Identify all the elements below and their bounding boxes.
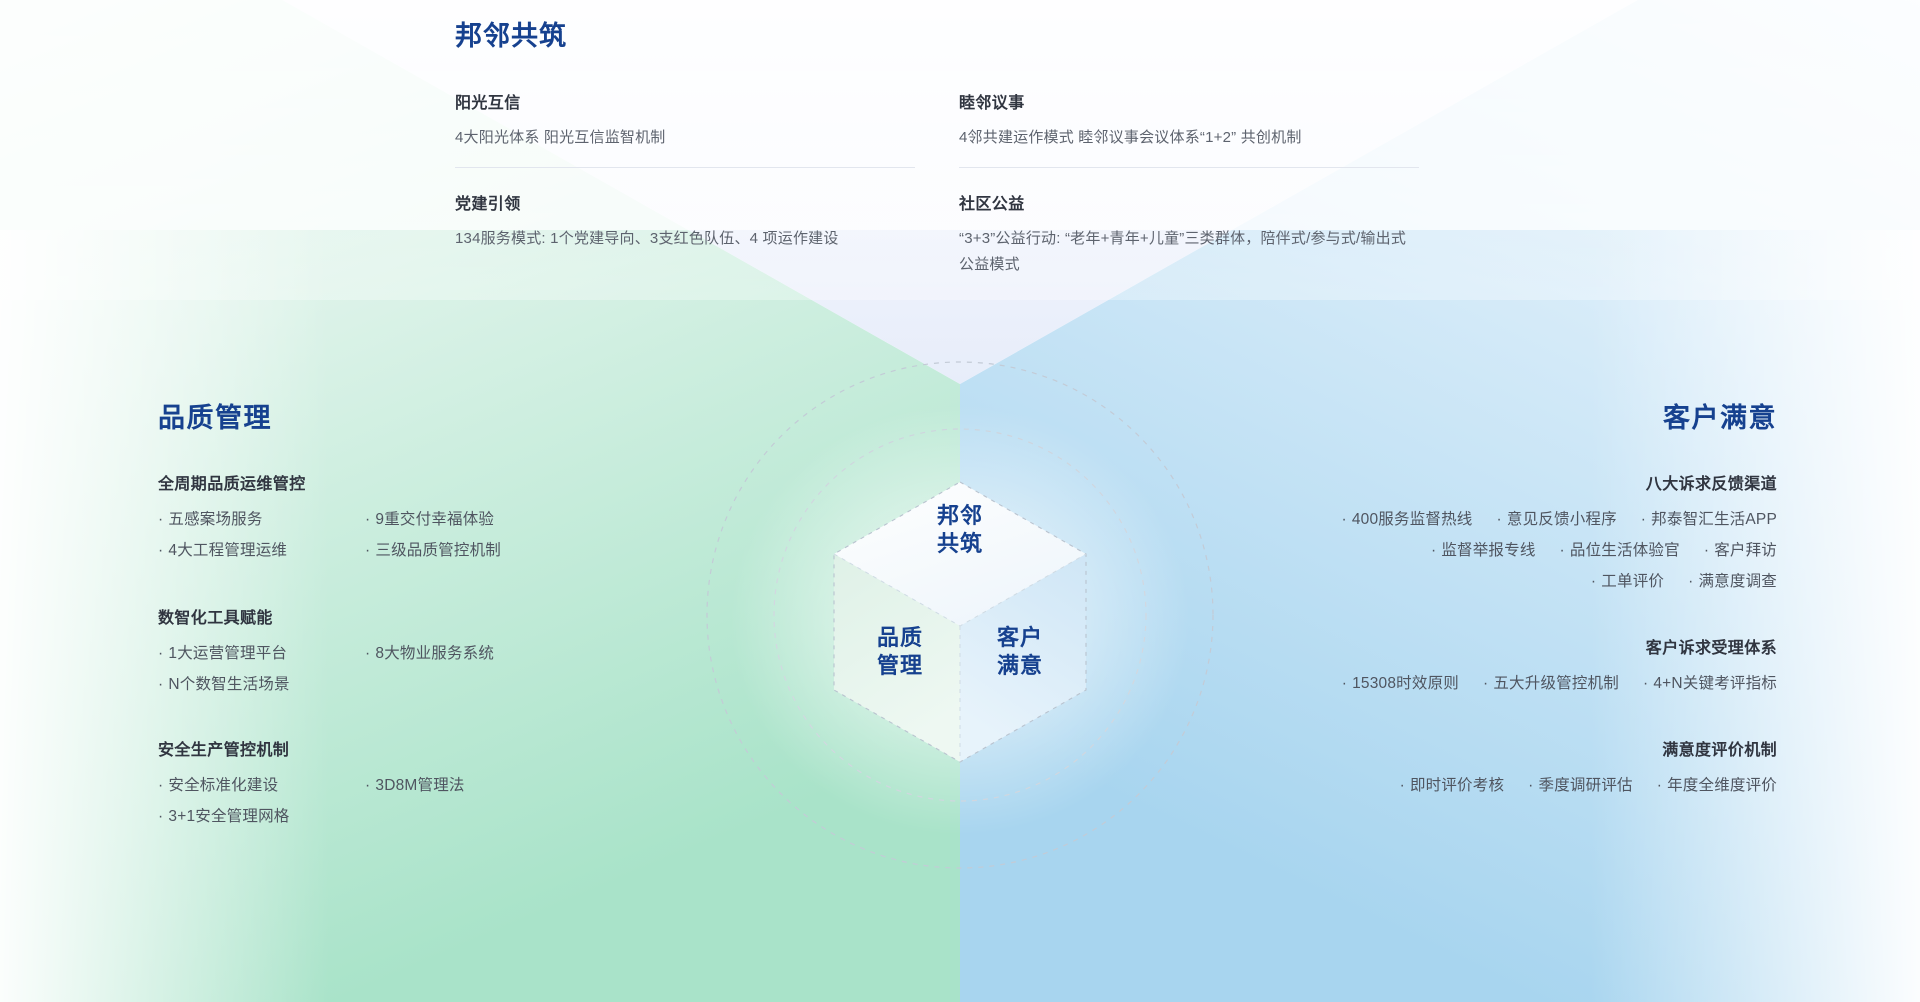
top-card-heading: 党建引领 <box>455 190 915 214</box>
list-item: 监督举报专线 <box>1431 542 1536 559</box>
group-heading: 全周期品质运维管控 <box>158 470 548 494</box>
list-item: 品位生活体验官 <box>1560 542 1680 559</box>
center-cube-diagram: 邦邻共筑 品质管理 客户满意 <box>828 478 1092 766</box>
group-heading: 客户诉求受理体系 <box>1157 634 1777 658</box>
group-heading: 数智化工具赋能 <box>158 604 548 628</box>
list-item: 三级品质管控机制 <box>353 535 548 566</box>
group-satisfaction-evaluation: 满意度评价机制 即时评价考核季度调研评估年度全维度评价 <box>1157 736 1777 801</box>
group-feedback-channels: 八大诉求反馈渠道 400服务监督热线意见反馈小程序邦泰智汇生活APP 监督举报专… <box>1157 470 1777 597</box>
list-item: 8大物业服务系统 <box>353 638 548 669</box>
top-card-heading: 睦邻议事 <box>959 89 1419 113</box>
list-item: 即时评价考核 <box>1400 777 1505 794</box>
top-card-welfare: 社区公益 “3+3”公益行动: “老年+青年+儿童”三类群体，陪伴式/参与式/输… <box>959 168 1419 294</box>
list-item: 满意度调查 <box>1688 573 1777 590</box>
list-item: 4大工程管理运维 <box>158 535 353 566</box>
list-item: 季度调研评估 <box>1528 777 1633 794</box>
top-card-heading: 阳光互信 <box>455 89 915 113</box>
list-item: 3+1安全管理网格 <box>158 801 353 832</box>
list-row: 即时评价考核季度调研评估年度全维度评价 <box>1157 770 1777 801</box>
group-item-list: 安全标准化建设 3D8M管理法 3+1安全管理网格 <box>158 770 548 832</box>
group-item-list: 五感案场服务 9重交付幸福体验 4大工程管理运维 三级品质管控机制 <box>158 504 548 566</box>
top-section-title: 邦邻共筑 <box>455 0 1465 53</box>
right-section-title: 客户满意 <box>1663 396 1777 435</box>
top-card-neighbor: 睦邻议事 4邻共建运作模式 睦邻议事会议体系“1+2” 共创机制 <box>959 89 1419 168</box>
list-item: 年度全维度评价 <box>1657 777 1777 794</box>
top-section-grid: 阳光互信 4大阳光体系 阳光互信监智机制 党建引领 134服务模式: 1个党建导… <box>455 89 1465 294</box>
list-row: 工单评价满意度调查 <box>1157 566 1777 597</box>
group-item-list: 1大运营管理平台 8大物业服务系统 N个数智生活场景 <box>158 638 548 700</box>
cube-shape <box>828 478 1092 766</box>
top-card-body: 4邻共建运作模式 睦邻议事会议体系“1+2” 共创机制 <box>959 125 1419 151</box>
list-item: 五大升级管控机制 <box>1483 675 1619 692</box>
list-item: 工单评价 <box>1591 573 1664 590</box>
group-safety-control: 安全生产管控机制 安全标准化建设 3D8M管理法 3+1安全管理网格 <box>158 736 548 832</box>
group-item-list: 15308时效原则五大升级管控机制4+N关键考评指标 <box>1157 668 1777 699</box>
top-card-body: 134服务模式: 1个党建导向、3支红色队伍、4 项运作建设 <box>455 226 915 252</box>
list-item: 1大运营管理平台 <box>158 638 353 669</box>
infographic-canvas: 邦邻共筑 阳光互信 4大阳光体系 阳光互信监智机制 党建引领 134服务模式: … <box>0 0 1920 1002</box>
list-item: N个数智生活场景 <box>158 669 353 700</box>
list-item: 3D8M管理法 <box>353 770 548 801</box>
group-heading: 满意度评价机制 <box>1157 736 1777 760</box>
list-item: 客户拜访 <box>1704 542 1777 559</box>
list-item: 4+N关键考评指标 <box>1643 675 1777 692</box>
group-heading: 八大诉求反馈渠道 <box>1157 470 1777 494</box>
list-item: 意见反馈小程序 <box>1497 511 1617 528</box>
top-column-right: 睦邻议事 4邻共建运作模式 睦邻议事会议体系“1+2” 共创机制 社区公益 “3… <box>959 89 1419 294</box>
top-card-party: 党建引领 134服务模式: 1个党建导向、3支红色队伍、4 项运作建设 <box>455 168 915 268</box>
top-card-sunshine: 阳光互信 4大阳光体系 阳光互信监智机制 <box>455 89 915 168</box>
top-column-left: 阳光互信 4大阳光体系 阳光互信监智机制 党建引领 134服务模式: 1个党建导… <box>455 89 915 294</box>
list-item: 15308时效原则 <box>1342 675 1459 692</box>
list-row: 400服务监督热线意见反馈小程序邦泰智汇生活APP <box>1157 504 1777 535</box>
left-section-title: 品质管理 <box>158 396 272 435</box>
group-heading: 安全生产管控机制 <box>158 736 548 760</box>
group-item-list: 400服务监督热线意见反馈小程序邦泰智汇生活APP 监督举报专线品位生活体验官客… <box>1157 504 1777 597</box>
list-item: 五感案场服务 <box>158 504 353 535</box>
group-quality-lifecycle: 全周期品质运维管控 五感案场服务 9重交付幸福体验 4大工程管理运维 三级品质管… <box>158 470 548 566</box>
list-item: 400服务监督热线 <box>1341 511 1472 528</box>
top-card-heading: 社区公益 <box>959 190 1419 214</box>
list-row: 监督举报专线品位生活体验官客户拜访 <box>1157 535 1777 566</box>
list-item: 9重交付幸福体验 <box>353 504 548 535</box>
top-card-body: 4大阳光体系 阳光互信监智机制 <box>455 125 915 151</box>
top-section: 邦邻共筑 阳光互信 4大阳光体系 阳光互信监智机制 党建引领 134服务模式: … <box>455 0 1465 294</box>
list-row: 15308时效原则五大升级管控机制4+N关键考评指标 <box>1157 668 1777 699</box>
group-item-list: 即时评价考核季度调研评估年度全维度评价 <box>1157 770 1777 801</box>
group-digital-tools: 数智化工具赋能 1大运营管理平台 8大物业服务系统 N个数智生活场景 <box>158 604 548 700</box>
list-item: 邦泰智汇生活APP <box>1641 511 1777 528</box>
list-item: 安全标准化建设 <box>158 770 353 801</box>
group-complaint-handling: 客户诉求受理体系 15308时效原则五大升级管控机制4+N关键考评指标 <box>1157 634 1777 699</box>
top-card-body: “3+3”公益行动: “老年+青年+儿童”三类群体，陪伴式/参与式/输出式公益模… <box>959 226 1419 278</box>
